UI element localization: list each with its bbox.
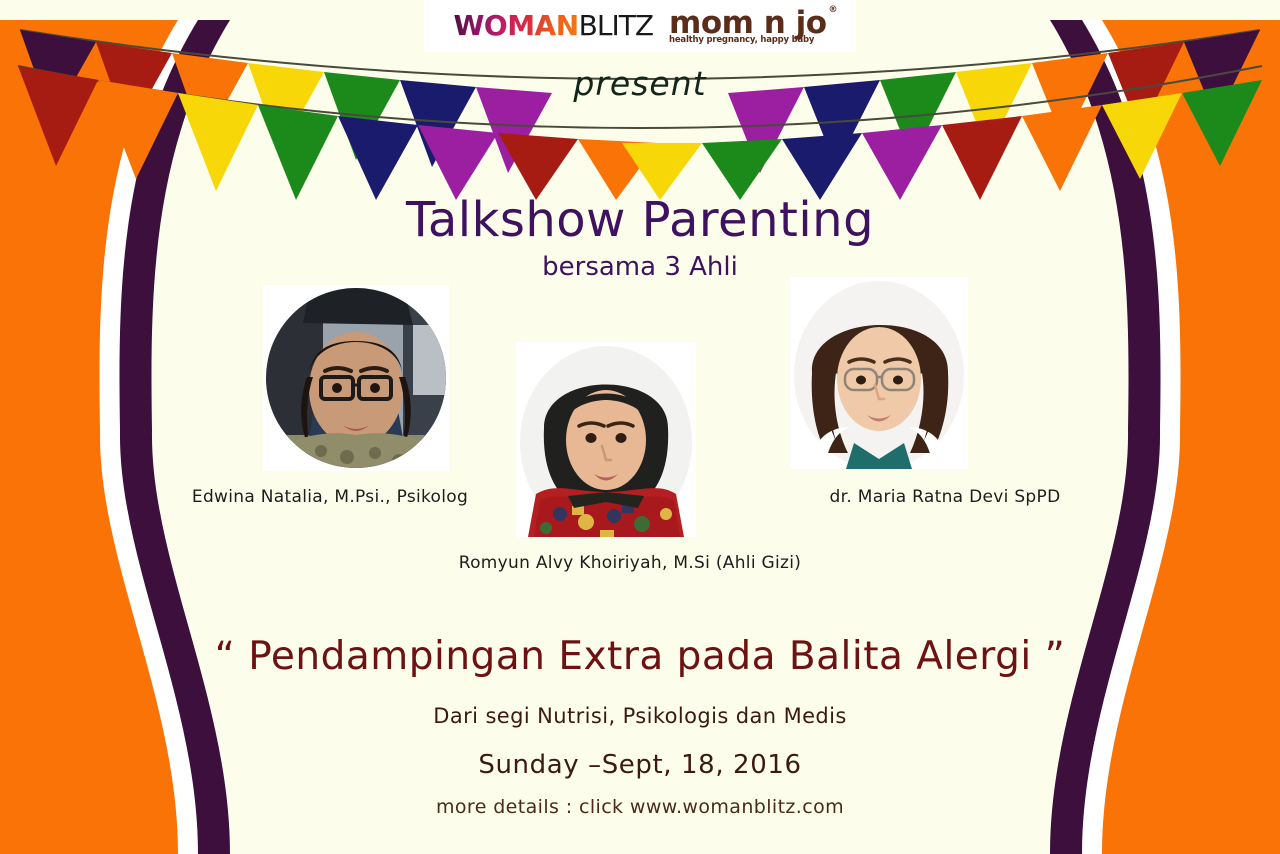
momnjo-logo: mom n jo ® healthy pregnancy, happy baby [669, 8, 826, 45]
speaker-name-maria: dr. Maria Ratna Devi SpPD [700, 487, 1190, 507]
poster-canvas: WOMANBLITZ mom n jo ® healthy pregnancy,… [0, 0, 1280, 854]
womanblitz-logo-blitz: BLITZ [579, 9, 653, 42]
womanblitz-logo: WOMANBLITZ [454, 12, 654, 40]
event-headline: “ Pendampingan Extra pada Balita Alergi … [0, 634, 1280, 679]
womanblitz-logo-woman: WOMAN [454, 9, 579, 42]
registered-trademark-icon: ® [829, 6, 838, 15]
logo-strip: WOMANBLITZ mom n jo ® healthy pregnancy,… [424, 0, 856, 52]
speaker-photo-romyun [516, 342, 696, 537]
speaker-photo-maria [790, 277, 968, 469]
momnjo-tagline: healthy pregnancy, happy baby [669, 36, 826, 45]
present-label: present [573, 64, 706, 103]
page-title: Talkshow Parenting [0, 192, 1280, 248]
event-topic-line: Dari segi Nutrisi, Psikologis dan Medis [0, 704, 1280, 728]
event-more-info[interactable]: more details : click www.womanblitz.com [0, 796, 1280, 818]
speaker-name-romyun: Romyun Alvy Khoiriyah, M.Si (Ahli Gizi) [350, 553, 910, 573]
speaker-card-maria: dr. Maria Ratna Devi SpPD [700, 277, 1190, 507]
event-date-line: Sunday –Sept, 18, 2016 [0, 750, 1280, 780]
